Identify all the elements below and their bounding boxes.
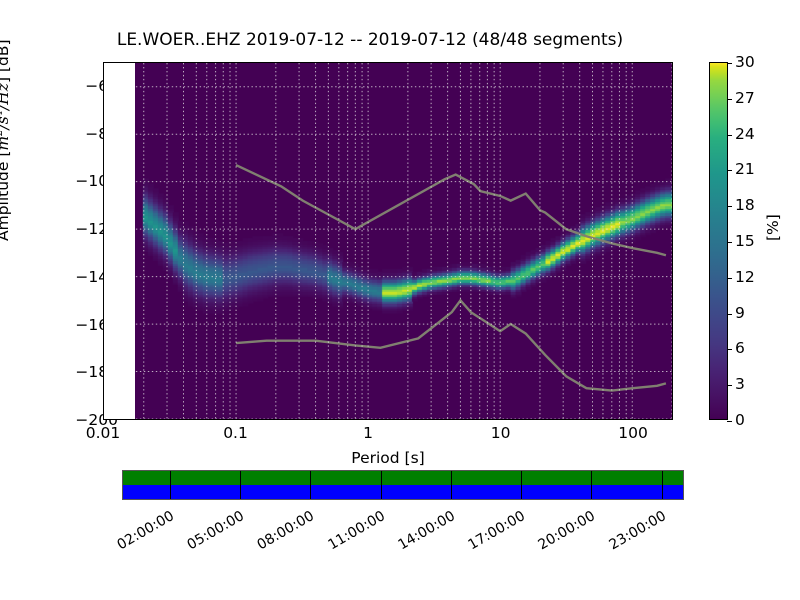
timeline-separator (591, 471, 592, 499)
no-data-region (104, 63, 135, 419)
x-tick-minor (496, 419, 497, 420)
x-tick-minor (628, 419, 629, 420)
colorbar-tick (727, 63, 732, 64)
x-tick-minor (462, 419, 463, 420)
colorbar-tick-label: 30 (735, 53, 755, 71)
x-tick-minor (614, 419, 615, 420)
x-tick-minor (230, 419, 231, 420)
y-axis-label: Amplitude [m2/s4/Hz] [dB] (0, 40, 12, 242)
colorbar-tick-label: 18 (735, 196, 755, 214)
x-tick-minor (329, 419, 330, 420)
x-tick-label: 100 (618, 424, 648, 442)
x-tick-minor (621, 419, 622, 420)
x-tick-minor (184, 419, 185, 420)
colorbar-tick (727, 385, 732, 386)
ppsd-axes (103, 62, 673, 420)
colorbar-tick (727, 278, 732, 279)
colorbar-tick (727, 421, 732, 422)
colorbar-tick (727, 135, 732, 136)
x-tick-label: 1 (363, 424, 373, 442)
x-tick-minor (216, 419, 217, 420)
timeline-tick-label: 20:00:00 (523, 508, 599, 561)
x-tick-minor (432, 419, 433, 420)
x-tick-minor (489, 419, 490, 420)
x-tick-minor (340, 419, 341, 420)
x-tick-minor (144, 419, 145, 420)
timeline-separator (381, 471, 382, 499)
timeline-separator (310, 471, 311, 499)
colorbar-tick (727, 206, 732, 207)
x-tick-label: 10 (491, 424, 511, 442)
x-axis-label: Period [s] (103, 449, 673, 467)
colorbar-tick-label: 15 (735, 232, 755, 250)
colorbar-tick (727, 349, 732, 350)
timeline-separator (451, 471, 452, 499)
colorbar-tick-label: 3 (735, 375, 745, 393)
timeline-band-blue (123, 485, 683, 499)
colorbar-tick (727, 170, 732, 171)
x-tick-minor (565, 419, 566, 420)
colorbar-tick-label: 12 (735, 268, 755, 286)
x-tick-minor (363, 419, 364, 420)
x-tick-minor (276, 419, 277, 420)
timeline-separator (662, 471, 663, 499)
timeline-tick-label: 02:00:00 (101, 508, 177, 561)
timeline-tick-label: 11:00:00 (312, 508, 388, 561)
timeline-tick-label: 14:00:00 (382, 508, 458, 561)
colorbar-tick-label: 27 (735, 89, 755, 107)
timeline-separator (240, 471, 241, 499)
x-tick-minor (605, 419, 606, 420)
x-tick (634, 419, 635, 420)
timeline-tick-label: 05:00:00 (172, 508, 248, 561)
x-tick-minor (207, 419, 208, 420)
figure-title: LE.WOER..EHZ 2019-07-12 -- 2019-07-12 (4… (0, 30, 740, 50)
x-tick-minor (300, 419, 301, 420)
x-tick-minor (356, 419, 357, 420)
x-tick-minor (409, 419, 410, 420)
colorbar-tick-label: 24 (735, 125, 755, 143)
colorbar-tick-label: 21 (735, 160, 755, 178)
colorbar (709, 62, 728, 420)
x-tick (369, 419, 370, 420)
x-tick (237, 419, 238, 420)
ppsd-figure: LE.WOER..EHZ 2019-07-12 -- 2019-07-12 (4… (0, 0, 800, 600)
colorbar-label: [%] (764, 214, 782, 241)
colorbar-tick-label: 0 (735, 411, 745, 429)
colorbar-tick (727, 314, 732, 315)
timeline-separator (170, 471, 171, 499)
colorbar-tick-label: 6 (735, 339, 745, 357)
x-tick-minor (481, 419, 482, 420)
x-tick-minor (224, 419, 225, 420)
data-coverage-timeline (122, 470, 684, 500)
x-tick-minor (594, 419, 595, 420)
x-tick-minor (197, 419, 198, 420)
x-tick-minor (316, 419, 317, 420)
x-tick-minor (472, 419, 473, 420)
x-tick-minor (349, 419, 350, 420)
colorbar-tick-label: 9 (735, 304, 745, 322)
timeline-separator (521, 471, 522, 499)
x-tick-minor (449, 419, 450, 420)
colorbar-tick (727, 99, 732, 100)
x-tick-minor (581, 419, 582, 420)
timeline-tick-label: 08:00:00 (242, 508, 318, 561)
colorbar-tick (727, 242, 732, 243)
x-tick-label: 0.1 (223, 424, 248, 442)
x-tick-label: 0.01 (86, 424, 121, 442)
x-tick (502, 419, 503, 420)
x-tick-minor (541, 419, 542, 420)
x-tick-minor (167, 419, 168, 420)
grid-lines (104, 63, 672, 419)
timeline-tick-label: 17:00:00 (453, 508, 529, 561)
timeline-band-green (123, 471, 683, 485)
timeline-tick-label: 23:00:00 (593, 508, 669, 561)
